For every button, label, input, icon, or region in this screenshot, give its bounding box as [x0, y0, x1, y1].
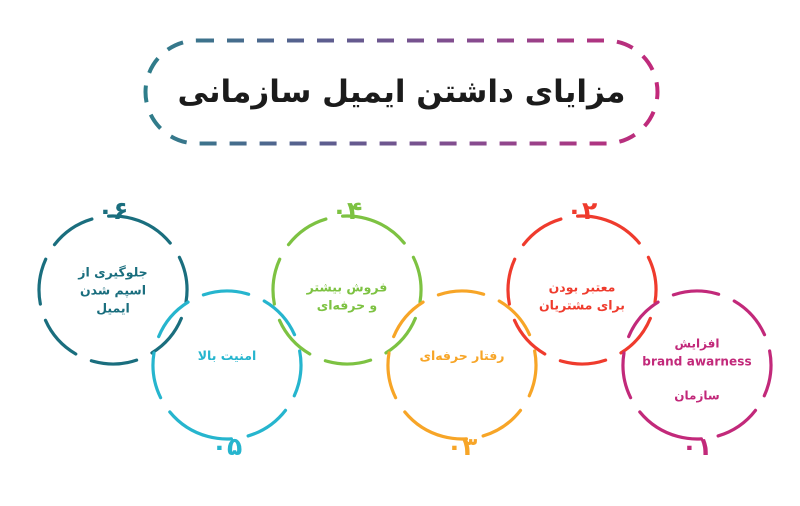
benefit-number-06: ۰۶: [36, 198, 190, 223]
benefit-number-04: ۰۴: [270, 198, 424, 223]
benefit-label-01: افزایش brand awarness سازمان: [628, 318, 766, 405]
benefit-number-05: ۰۵: [150, 434, 304, 459]
benefit-node-01[interactable]: ۰۱ افزایش brand awarness سازمان: [620, 288, 774, 442]
benefit-number-03: ۰۳: [385, 434, 539, 459]
benefit-label-01-line2: brand awarness: [628, 353, 766, 370]
benefit-number-01: ۰۱: [620, 434, 774, 459]
benefit-label-01-line1: افزایش: [674, 337, 719, 351]
benefit-number-02: ۰۲: [505, 198, 659, 223]
page-title: مزایای داشتن ایمیل سازمانی: [178, 74, 626, 110]
infographic-canvas: مزایای داشتن ایمیل سازمانی ۰۶ جلوگیری از…: [0, 0, 800, 506]
benefit-label-01-line3: سازمان: [674, 389, 719, 403]
